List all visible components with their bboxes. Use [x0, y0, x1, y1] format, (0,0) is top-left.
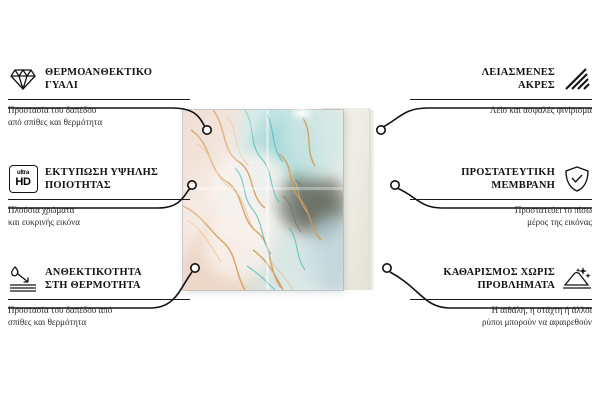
divider: [410, 99, 592, 100]
backing-panel-edge: [369, 110, 374, 290]
divider: [410, 199, 592, 200]
feature-heat-resistant-glass: ΘΕΡΜΟΑΝΘΕΚΤΙΚΟ ΓΥΑΛΙ Προστασία του δαπέδ…: [8, 62, 190, 128]
feature-description: Προστασία του δαπέδου από σπίθες και θερ…: [8, 305, 190, 328]
feature-header: ΛΕΙΑΣΜΕΝΕΣ ΑΚΡΕΣ: [410, 62, 592, 96]
feature-header: ultra HD ΕΚΤΥΠΩΣΗ ΥΨΗΛΗΣ ΠΟΙΟΤΗΤΑΣ: [8, 162, 190, 196]
feature-title: ΠΡΟΣΤΑΤΕΥΤΙΚΗ ΜΕΜΒΡΑΝΗ: [461, 166, 555, 192]
feature-polished-edges: ΛΕΙΑΣΜΕΝΕΣ ΑΚΡΕΣ Λείο και ασφαλές φινίρι…: [410, 62, 592, 117]
flame-deflect-icon: [8, 264, 38, 294]
feature-title: ΚΑΘΑΡΙΣΜΟΣ ΧΩΡΙΣ ΠΡΟΒΛΗΜΑΤΑ: [443, 266, 555, 292]
ultra-hd-badge-icon: ultra HD: [8, 164, 38, 194]
feature-description: Λείο και ασφαλές φινίρισμα: [410, 105, 592, 117]
glass-panel-artwork: [183, 110, 343, 290]
feature-description: Πλούσια χρώματα και ευκρινής εικόνα: [8, 205, 190, 228]
diamond-icon: [8, 64, 38, 94]
feature-high-quality-print: ultra HD ΕΚΤΥΠΩΣΗ ΥΨΗΛΗΣ ΠΟΙΟΤΗΤΑΣ Πλούσ…: [8, 162, 190, 228]
sparkle-clean-icon: [562, 264, 592, 294]
feature-easy-cleaning: ΚΑΘΑΡΙΣΜΟΣ ΧΩΡΙΣ ΠΡΟΒΛΗΜΑΤΑ Η αιθάλη, η …: [410, 262, 592, 328]
feature-header: ΠΡΟΣΤΑΤΕΥΤΙΚΗ ΜΕΜΒΡΑΝΗ: [410, 162, 592, 196]
feature-description: Προστατεύει το πίσω μέρος της εικόνας: [410, 205, 592, 228]
ink-veining: [183, 110, 343, 290]
divider: [8, 199, 190, 200]
beveled-edge-icon: [562, 64, 592, 94]
product-image: [183, 110, 395, 290]
feature-heat-durability: ΑΝΘΕΚΤΙΚΟΤΗΤΑ ΣΤΗ ΘΕΡΜΟΤΗΤΑ Προστασία το…: [8, 262, 190, 328]
ultra-hd-large-text: HD: [15, 177, 30, 188]
divider: [410, 299, 592, 300]
divider: [8, 99, 190, 100]
feature-header: ΚΑΘΑΡΙΣΜΟΣ ΧΩΡΙΣ ΠΡΟΒΛΗΜΑΤΑ: [410, 262, 592, 296]
feature-description: Προστασία του δαπέδου από σπίθες και θερ…: [8, 105, 190, 128]
feature-title: ΕΚΤΥΠΩΣΗ ΥΨΗΛΗΣ ΠΟΙΟΤΗΤΑΣ: [45, 166, 158, 192]
shield-check-icon: [562, 164, 592, 194]
infographic-canvas: ΘΕΡΜΟΑΝΘΕΚΤΙΚΟ ΓΥΑΛΙ Προστασία του δαπέδ…: [0, 0, 600, 400]
feature-description: Η αιθάλη, η στάχτη ή άλλοι ρύποι μπορούν…: [410, 305, 592, 328]
feature-protective-membrane: ΠΡΟΣΤΑΤΕΥΤΙΚΗ ΜΕΜΒΡΑΝΗ Προστατεύει το πί…: [410, 162, 592, 228]
feature-header: ΘΕΡΜΟΑΝΘΕΚΤΙΚΟ ΓΥΑΛΙ: [8, 62, 190, 96]
feature-title: ΛΕΙΑΣΜΕΝΕΣ ΑΚΡΕΣ: [482, 66, 555, 92]
feature-title: ΘΕΡΜΟΑΝΘΕΚΤΙΚΟ ΓΥΑΛΙ: [45, 66, 152, 92]
feature-header: ΑΝΘΕΚΤΙΚΟΤΗΤΑ ΣΤΗ ΘΕΡΜΟΤΗΤΑ: [8, 262, 190, 296]
divider: [8, 299, 190, 300]
feature-title: ΑΝΘΕΚΤΙΚΟΤΗΤΑ ΣΤΗ ΘΕΡΜΟΤΗΤΑ: [45, 266, 142, 292]
